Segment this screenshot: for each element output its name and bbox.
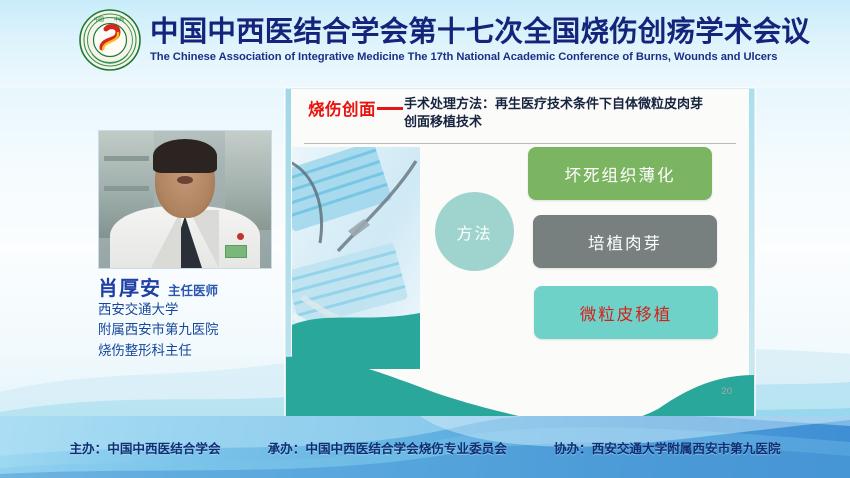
- footer-organizer: 主办：中国中西医结合学会: [69, 438, 220, 457]
- presenter-hair: [153, 139, 217, 173]
- video-background-shelf: [104, 156, 149, 161]
- presenter-role: 主任医师: [168, 280, 218, 299]
- flow-box-label: 微粒皮移植: [580, 301, 673, 325]
- conference-header: 中国 中西 中国中西医结合学会第十七次全国烧伤创疡学术会议 The Chines…: [0, 0, 850, 88]
- video-background-shelf-2: [104, 186, 149, 191]
- slide-title-subtitle: 手术处理方法：再生医疗技术条件下自体微粒皮肉芽创面移植技术: [404, 96, 704, 131]
- presentation-slide[interactable]: 烧伤创面 手术处理方法：再生医疗技术条件下自体微粒皮肉芽创面移植技术: [285, 88, 755, 420]
- conference-title-en: The Chinese Association of Integrative M…: [150, 51, 810, 63]
- method-circle: 方法: [435, 192, 514, 271]
- slide-title-kicker: 烧伤创面: [308, 96, 376, 120]
- footer-co-organizer: 协办：西安交通大学附属西安市第九医院: [554, 438, 781, 457]
- slide-accent-left: [286, 89, 291, 419]
- flow-box-necrotic-tissue-thinning[interactable]: 坏死组织薄化: [528, 147, 712, 200]
- presenter-lapel-pin-icon: [237, 233, 244, 240]
- broadcast-screen: 中国 中西 中国中西医结合学会第十七次全国烧伤创疡学术会议 The Chines…: [0, 0, 850, 478]
- presenter-collar-right: [189, 210, 219, 268]
- presenter-mouth: [177, 176, 193, 184]
- slide-accent-right: [749, 89, 754, 419]
- association-emblem-icon: 中国 中西: [78, 8, 142, 72]
- presenter-collar-left: [151, 210, 181, 268]
- method-circle-label: 方法: [456, 220, 492, 244]
- surgical-masks-photo: [292, 147, 420, 369]
- sponsor-footer-bar: 主办：中国中西医结合学会 承办：中国中西医结合学会烧伤专业委员会 协办：西安交通…: [0, 416, 850, 478]
- conference-title-cn: 中国中西医结合学会第十七次全国烧伤创疡学术会议: [150, 17, 810, 48]
- slide-divider: [304, 143, 736, 144]
- slide-page-number: 20: [721, 386, 732, 397]
- flow-box-label: 坏死组织薄化: [565, 162, 676, 186]
- slide-title-dash: [377, 107, 403, 110]
- presenter-name: 肖厚安: [98, 272, 161, 301]
- slide-title: 烧伤创面 手术处理方法：再生医疗技术条件下自体微粒皮肉芽创面移植技术: [308, 96, 736, 131]
- flow-box-microskin-grafting[interactable]: 微粒皮移植: [534, 286, 718, 339]
- flow-box-granulation-cultivation[interactable]: 培植肉芽: [533, 215, 717, 268]
- flow-box-label: 培植肉芽: [588, 230, 662, 254]
- presenter-name-badge: [225, 245, 247, 258]
- svg-text:中西: 中西: [114, 16, 124, 23]
- footer-host: 承办：中国中西医结合学会烧伤专业委员会: [268, 438, 507, 457]
- presenter-video[interactable]: [98, 130, 272, 269]
- svg-text:中国: 中国: [94, 16, 104, 23]
